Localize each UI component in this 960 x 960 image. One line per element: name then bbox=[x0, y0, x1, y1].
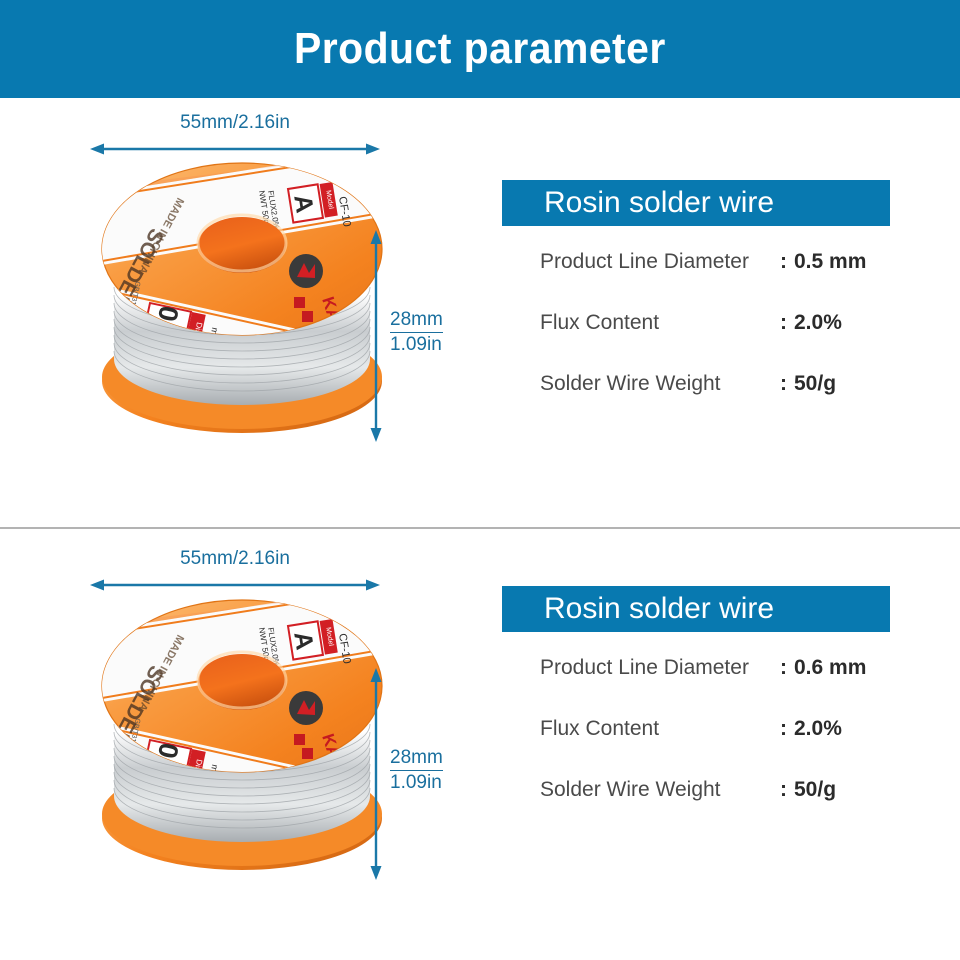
spec-label: Solder Wire Weight bbox=[540, 778, 721, 802]
page-title: Product parameter bbox=[294, 24, 666, 74]
spec-value: 0.6 mm bbox=[794, 656, 890, 680]
table-row: Product Line Diameter : 0.5 mm bbox=[502, 250, 890, 311]
spec-block: Rosin solder wire Product Line Diameter … bbox=[502, 586, 894, 839]
spec-colon: : bbox=[780, 311, 794, 335]
width-dimension-label: 55mm/2.16in bbox=[90, 112, 380, 134]
spec-colon: : bbox=[780, 778, 794, 802]
spec-value: 0.5 mm bbox=[794, 250, 890, 274]
page-header: Product parameter bbox=[0, 0, 960, 98]
height-dimension-mm: 28mm bbox=[390, 746, 443, 771]
table-row: Solder Wire Weight : 50/g bbox=[502, 778, 890, 839]
spec-label: Product Line Diameter bbox=[540, 250, 749, 274]
spec-row-list: Product Line Diameter : 0.5 mm Flux Cont… bbox=[502, 250, 890, 433]
spec-title-bar: Rosin solder wire bbox=[502, 586, 890, 632]
spec-title: Rosin solder wire bbox=[502, 592, 774, 626]
height-dimension: 28mm 1.09in bbox=[368, 230, 488, 442]
solder-spool-illustration: A Model CF-10 FLUX2.0% NWT 50g 0.6 Diam … bbox=[92, 590, 392, 880]
spec-title-bar: Rosin solder wire bbox=[502, 180, 890, 226]
solder-spool-illustration: A Model CF-10 FLUX2.0% NWT 50g 0.5 Diam … bbox=[92, 153, 392, 443]
height-dimension-arrow-icon bbox=[368, 230, 384, 442]
spec-value: 50/g bbox=[794, 372, 890, 396]
spec-block: Rosin solder wire Product Line Diameter … bbox=[502, 180, 894, 433]
height-dimension-in: 1.09in bbox=[390, 771, 486, 794]
table-row: Solder Wire Weight : 50/g bbox=[502, 372, 890, 433]
spec-colon: : bbox=[780, 372, 794, 396]
spec-label: Product Line Diameter bbox=[540, 656, 749, 680]
height-dimension-label: 28mm 1.09in bbox=[390, 746, 486, 794]
height-dimension-label: 28mm 1.09in bbox=[390, 308, 486, 356]
product-panel: 55mm/2.16in bbox=[0, 98, 960, 527]
spec-value: 2.0% bbox=[794, 717, 890, 741]
product-image-1: A Model CF-10 FLUX2.0% NWT 50g 0.6 Diam … bbox=[92, 590, 392, 880]
height-dimension: 28mm 1.09in bbox=[368, 668, 488, 880]
spec-label: Solder Wire Weight bbox=[540, 372, 721, 396]
table-row: Flux Content : 2.0% bbox=[502, 717, 890, 778]
table-row: Product Line Diameter : 0.6 mm bbox=[502, 656, 890, 717]
spec-label: Flux Content bbox=[540, 717, 659, 741]
product-image-0: A Model CF-10 FLUX2.0% NWT 50g 0.5 Diam … bbox=[92, 153, 392, 443]
height-dimension-in: 1.09in bbox=[390, 333, 486, 356]
height-dimension-mm: 28mm bbox=[390, 308, 443, 333]
spec-colon: : bbox=[780, 717, 794, 741]
product-panel: 55mm/2.16in bbox=[0, 528, 960, 960]
table-row: Flux Content : 2.0% bbox=[502, 311, 890, 372]
spec-title: Rosin solder wire bbox=[502, 186, 774, 220]
spec-label: Flux Content bbox=[540, 311, 659, 335]
spec-value: 50/g bbox=[794, 778, 890, 802]
spec-row-list: Product Line Diameter : 0.6 mm Flux Cont… bbox=[502, 656, 890, 839]
width-dimension-label: 55mm/2.16in bbox=[90, 548, 380, 570]
spec-colon: : bbox=[780, 250, 794, 274]
spec-colon: : bbox=[780, 656, 794, 680]
height-dimension-arrow-icon bbox=[368, 668, 384, 880]
spec-value: 2.0% bbox=[794, 311, 890, 335]
